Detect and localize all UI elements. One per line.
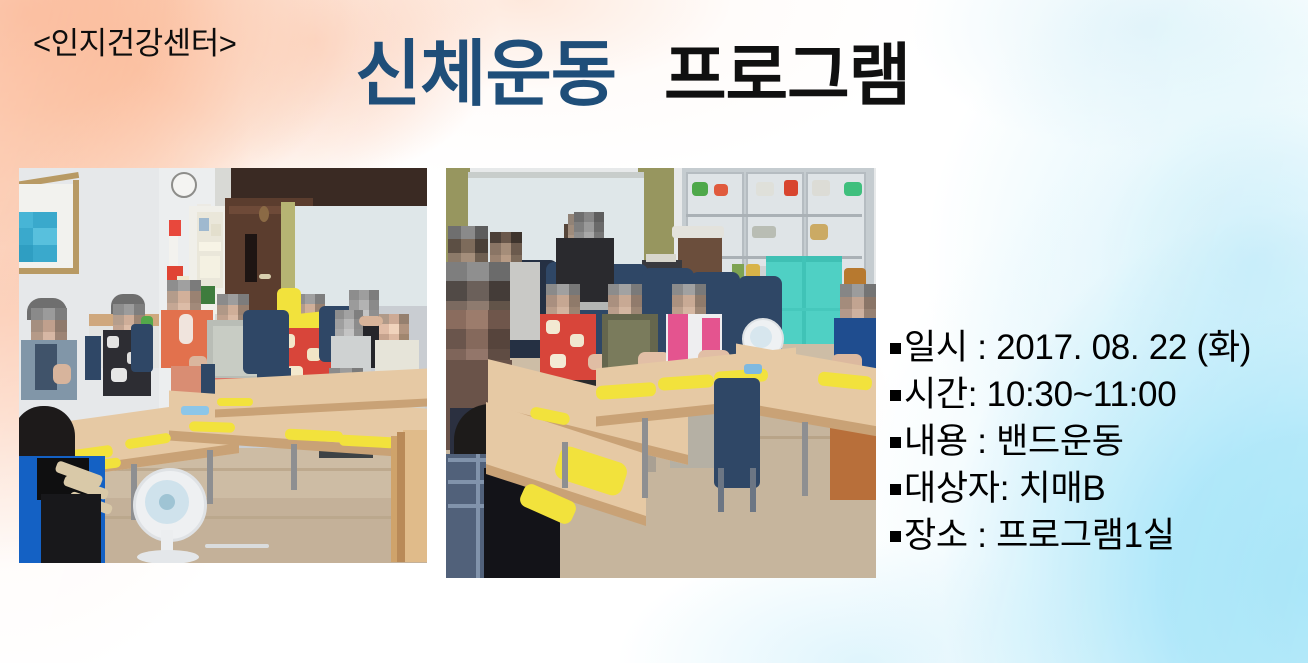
photo-left[interactable] [19,168,427,563]
list-item: 일시 : 2017. 08. 22 (화) [890,326,1305,371]
detail-date: 일시 : 2017. 08. 22 (화) [904,326,1251,370]
slide-canvas: <인지건강센터> 신체운동 프로그램 [0,0,1308,663]
title-primary: 신체운동 [355,38,616,114]
square-bullet-icon [890,343,901,354]
list-item: 장소 : 프로그램1실 [890,514,1305,559]
square-bullet-icon [890,437,901,448]
list-item: 내용 : 밴드운동 [890,420,1305,465]
square-bullet-icon [890,531,901,542]
photo-right-content [446,168,876,578]
square-bullet-icon [890,390,901,401]
program-details-list: 일시 : 2017. 08. 22 (화) 시간: 10:30~11:00 내용… [890,326,1305,561]
list-item: 대상자: 치매B [890,467,1305,512]
photo-left-content [19,168,427,563]
center-label: <인지건강센터> [33,28,236,59]
square-bullet-icon [890,484,901,495]
detail-time: 시간: 10:30~11:00 [904,373,1176,417]
detail-content: 내용 : 밴드운동 [904,420,1124,464]
detail-location: 장소 : 프로그램1실 [904,514,1175,558]
detail-audience: 대상자: 치매B [904,467,1105,511]
page-title: 신체운동 프로그램 [355,38,910,114]
title-secondary: 프로그램 [664,41,910,112]
list-item: 시간: 10:30~11:00 [890,373,1305,418]
photo-right[interactable] [446,168,876,578]
